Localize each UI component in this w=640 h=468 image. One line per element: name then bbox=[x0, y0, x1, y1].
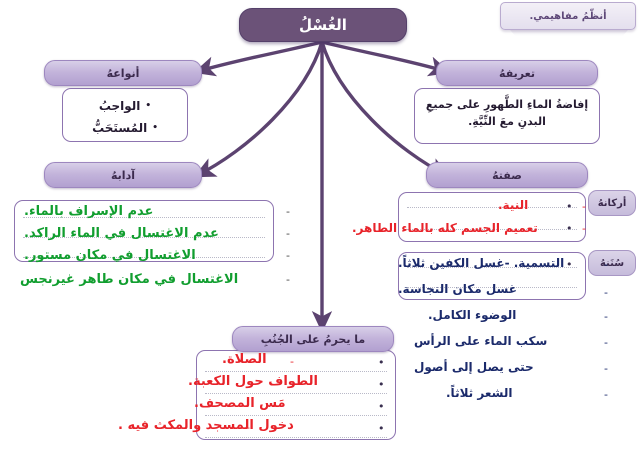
rule-line bbox=[205, 415, 387, 416]
bullet-icon: • bbox=[145, 102, 151, 111]
bullet-icon: • bbox=[566, 222, 573, 235]
arrow-to-definition bbox=[322, 42, 448, 72]
bullet-icon: • bbox=[566, 200, 573, 213]
bullet-icon: • bbox=[378, 400, 385, 413]
adab-item-3: الاغتسال في مكان مستور. bbox=[24, 248, 196, 263]
dash-marker: - bbox=[604, 258, 608, 271]
dash-marker: - bbox=[604, 286, 608, 299]
side-label-arkan-text: أركانهُ bbox=[598, 198, 627, 209]
dash-marker: - bbox=[604, 336, 608, 349]
dash-marker: - bbox=[604, 388, 608, 401]
dash-marker: - bbox=[604, 310, 608, 323]
sunan-item-6: الشعر ثلاثاً. bbox=[446, 386, 512, 400]
dash-marker: - bbox=[582, 200, 586, 213]
node-header-sifa[interactable]: صفتهُ bbox=[426, 162, 588, 188]
list-item: • الواجبُ bbox=[63, 95, 187, 117]
sunan-item-1: التسمية. -غسل الكفين ثلاثاً. bbox=[398, 256, 564, 270]
rule-line bbox=[205, 393, 387, 394]
sunan-item-4: سكب الماء على الرأس bbox=[414, 334, 547, 348]
sunan-item-5: حتى يصل إلى أصول bbox=[414, 360, 534, 374]
adab-item-1: عدم الإسراف بالماء. bbox=[24, 204, 153, 219]
adab-item-2: عدم الاغتسال في الماء الراكد. bbox=[24, 226, 219, 241]
rule-line bbox=[407, 207, 577, 208]
node-panel-definition: إفاضةُ الماءِ الطَّهورِ على جميعِ البدنِ… bbox=[414, 88, 600, 144]
rule-line bbox=[205, 437, 387, 438]
title-label: الغُسْلُ bbox=[299, 16, 347, 34]
arrow-to-adab bbox=[196, 42, 322, 176]
side-label-sunan[interactable]: سُنَنهُ bbox=[588, 250, 636, 276]
dash-marker: - bbox=[286, 273, 290, 286]
organize-concepts-badge: أنظّمُ مفاهيمي. bbox=[500, 2, 636, 30]
node-panel-types: • الواجبُ • المُستَحَبُّ bbox=[62, 88, 188, 142]
badge-label: أنظّمُ مفاهيمي. bbox=[529, 11, 606, 22]
node-header-sifa-label: صفتهُ bbox=[492, 170, 522, 181]
list-item: • المُستَحَبُّ bbox=[63, 117, 187, 139]
side-label-arkan[interactable]: أركانهُ bbox=[588, 190, 636, 216]
bullet-icon: • bbox=[378, 356, 385, 369]
arkan-item-2: تعميم الجسم كله بالماء الطاهر. bbox=[352, 221, 538, 235]
dash-marker: - bbox=[286, 249, 290, 262]
node-header-definition[interactable]: تعريفهُ bbox=[436, 60, 598, 86]
haram-item-2: الطواف حول الكعبة. bbox=[188, 374, 318, 389]
node-header-types-label: أنواعهُ bbox=[107, 68, 140, 79]
list-item-label: الواجبُ bbox=[99, 99, 141, 113]
definition-text: إفاضةُ الماءِ الطَّهورِ على جميعِ البدنِ… bbox=[415, 89, 599, 130]
sunan-item-2: غسل مكان النجاسة. bbox=[398, 282, 517, 296]
arrow-to-types bbox=[196, 42, 322, 72]
types-list: • الواجبُ • المُستَحَبُّ bbox=[63, 89, 187, 139]
dash-marker: - bbox=[604, 362, 608, 375]
node-header-haram[interactable]: ما يحرمُ على الجُنُبِ bbox=[232, 326, 394, 352]
dash-marker: - bbox=[286, 227, 290, 240]
node-header-definition-label: تعريفهُ bbox=[499, 68, 535, 79]
node-header-adab-label: آدابهُ bbox=[111, 170, 135, 181]
concept-map-canvas: أنظّمُ مفاهيمي. الغُسْلُ أنواعهُ • الواج… bbox=[0, 0, 640, 468]
node-header-haram-label: ما يحرمُ على الجُنُبِ bbox=[261, 334, 366, 345]
node-header-adab[interactable]: آدابهُ bbox=[44, 162, 202, 188]
bullet-icon: • bbox=[566, 258, 573, 271]
page-title: الغُسْلُ bbox=[239, 8, 407, 42]
adab-item-4: الاغتسال في مكان طاهر غيرنجس bbox=[20, 272, 238, 287]
node-header-types[interactable]: أنواعهُ bbox=[44, 60, 202, 86]
dash-marker: - bbox=[286, 205, 290, 218]
rule-line bbox=[205, 371, 387, 372]
haram-item-3: مَس المصحف. bbox=[194, 396, 286, 411]
arkan-item-1: النية. bbox=[498, 198, 528, 212]
bullet-icon: • bbox=[152, 124, 158, 133]
haram-item-4: دخول المسجد والمكث فيه . bbox=[118, 418, 294, 433]
list-item-label: المُستَحَبُّ bbox=[92, 121, 147, 135]
dash-marker: - bbox=[290, 355, 294, 368]
sunan-item-3: الوضوء الكامل. bbox=[428, 308, 516, 322]
bullet-icon: • bbox=[378, 378, 385, 391]
dash-marker: - bbox=[582, 222, 586, 235]
bullet-icon: • bbox=[378, 422, 385, 435]
haram-item-1: الصلاة. bbox=[222, 352, 267, 367]
